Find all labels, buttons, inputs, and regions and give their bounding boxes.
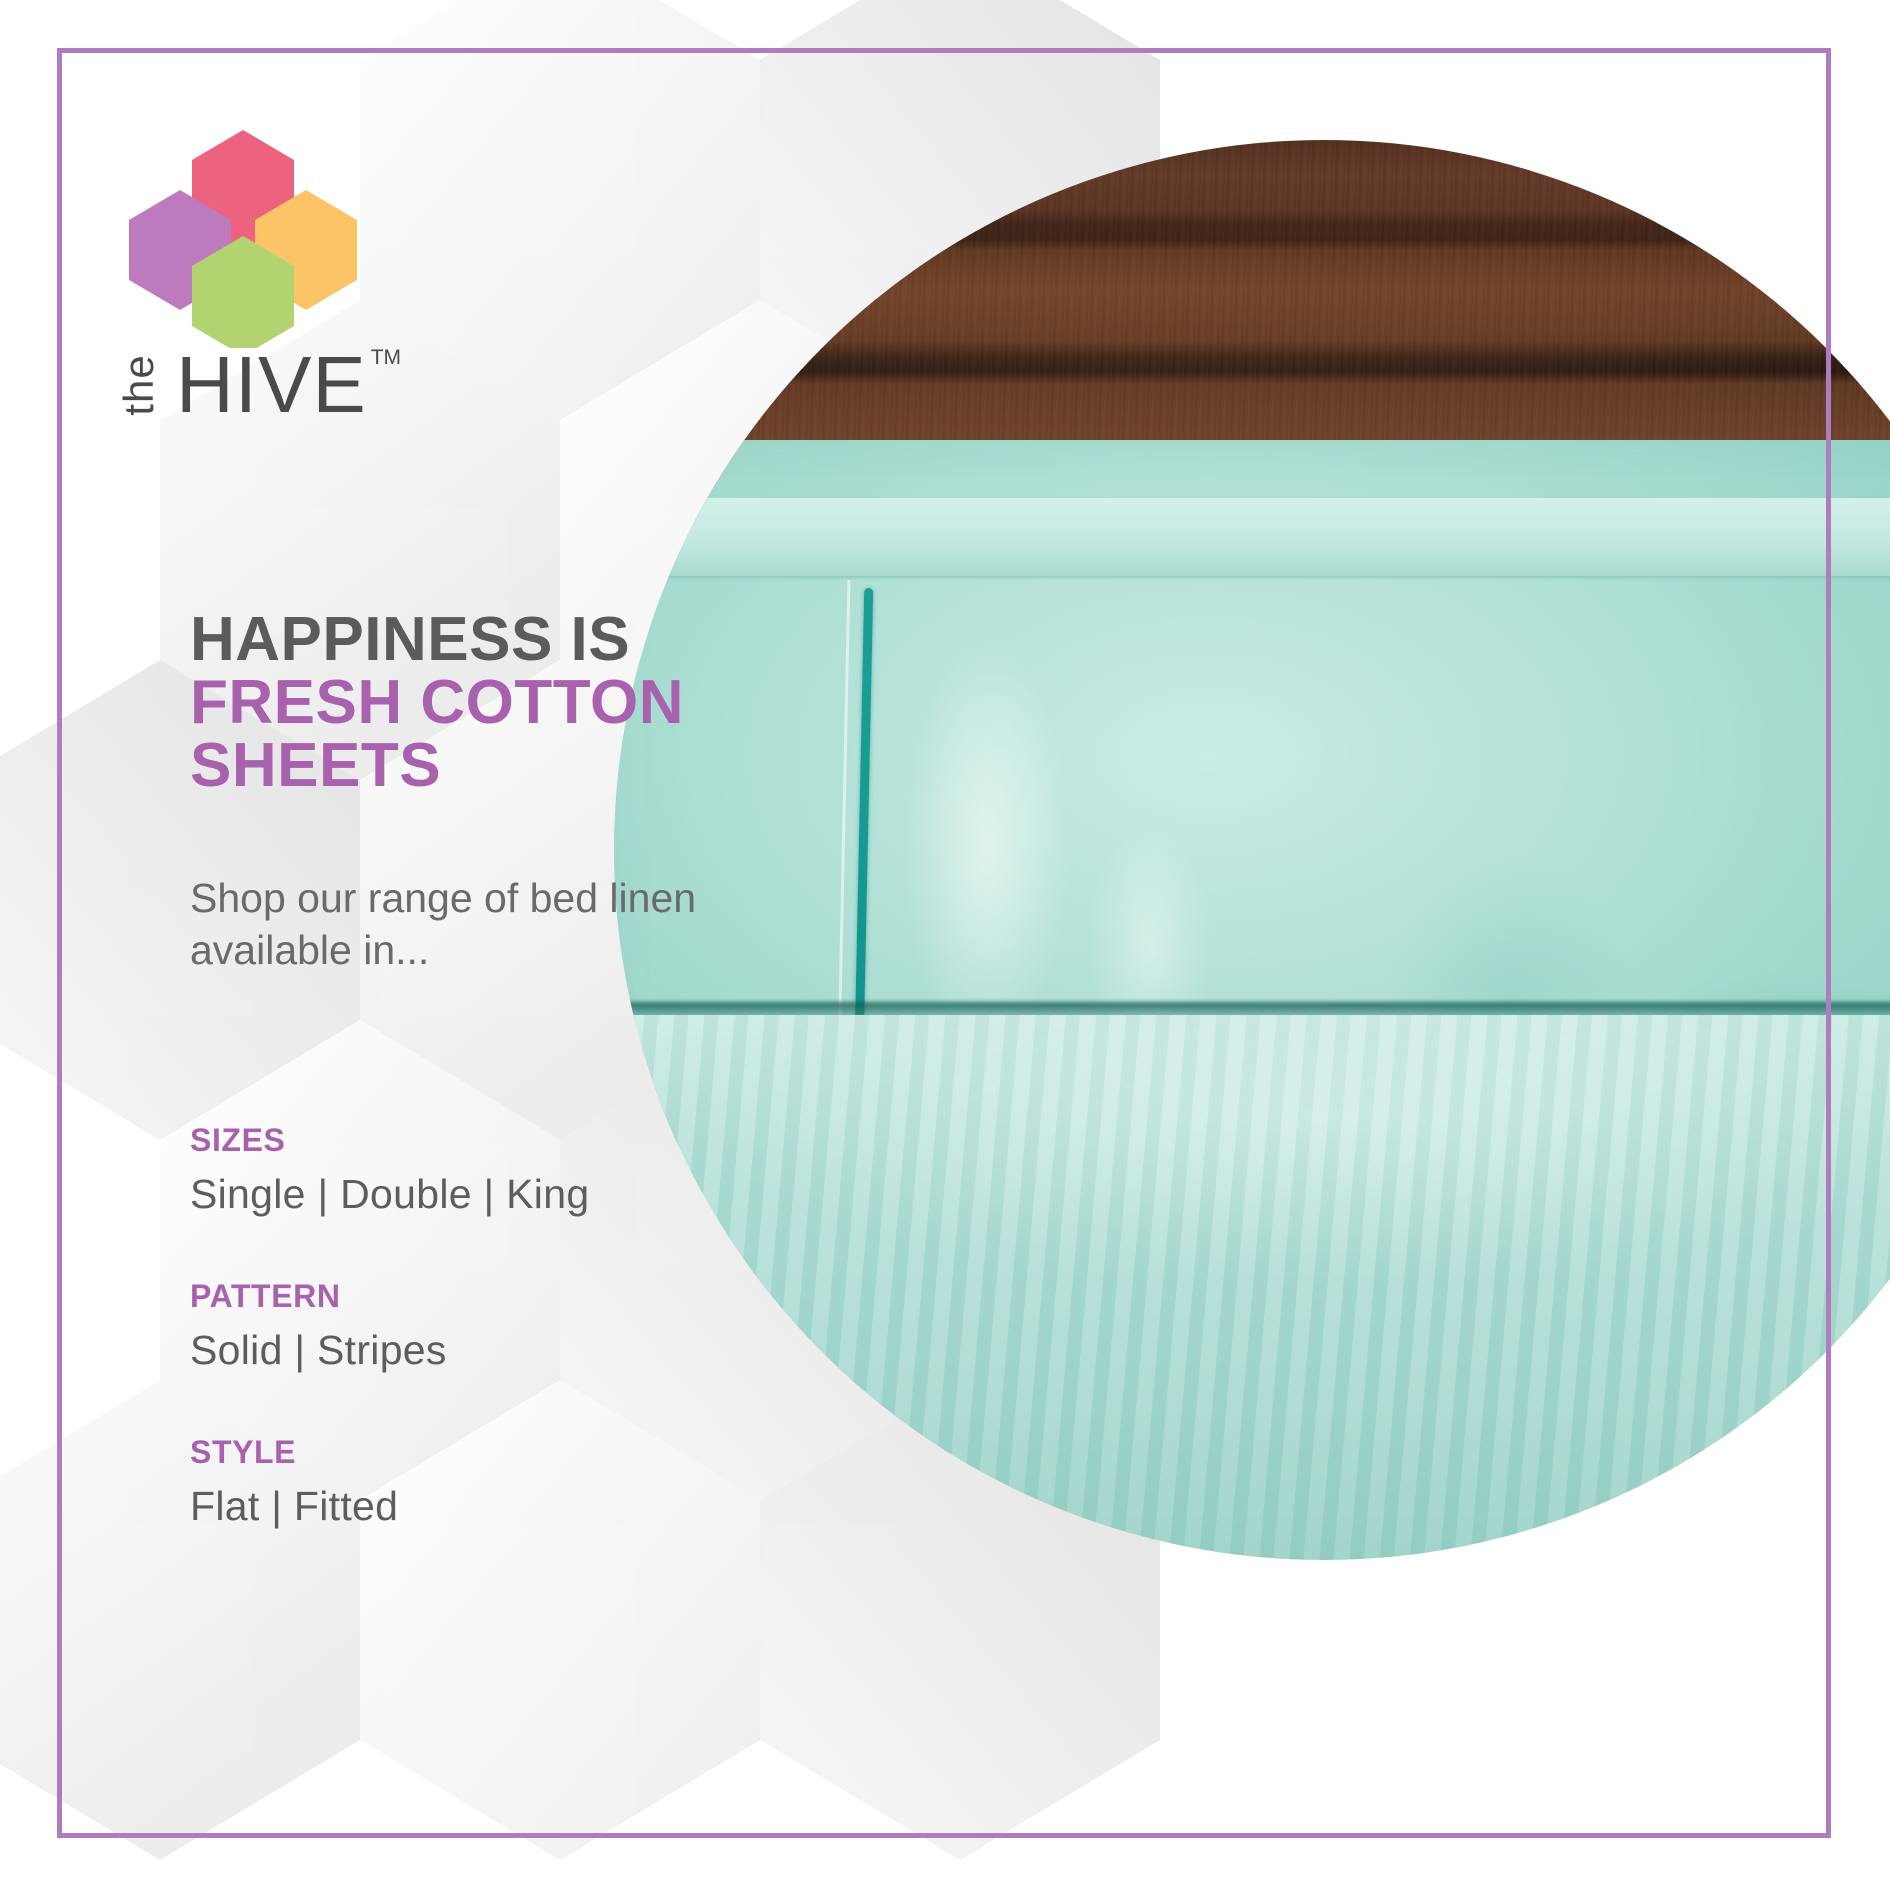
headline-line-3: SHEETS — [190, 734, 1890, 797]
feature-value: Solid | Stripes — [190, 1327, 790, 1374]
promo-poster: the HIVE TM HAPPINESS IS FRESH COTTON SH… — [0, 0, 1890, 1890]
feature-list: SIZES Single | Double | King PATTERN Sol… — [190, 1122, 790, 1590]
striped-fitted-sheet — [614, 1015, 1890, 1560]
wordmark-prefix: the — [114, 342, 164, 428]
headline-line-2: FRESH COTTON — [190, 671, 1890, 734]
feature-item-sizes: SIZES Single | Double | King — [190, 1122, 790, 1218]
feature-item-style: STYLE Flat | Fitted — [190, 1434, 790, 1530]
pillow-top-fold — [644, 498, 1890, 576]
feature-label: STYLE — [190, 1434, 790, 1471]
wordmark-main: HIVE — [176, 348, 367, 422]
feature-item-pattern: PATTERN Solid | Stripes — [190, 1278, 790, 1374]
trademark-symbol: TM — [371, 346, 401, 370]
brand-logo[interactable]: the HIVE TM — [118, 118, 438, 418]
feature-label: SIZES — [190, 1122, 790, 1159]
headline-block: HAPPINESS IS FRESH COTTON SHEETS — [190, 608, 1890, 798]
subcopy-text: Shop our range of bed linen available in… — [190, 872, 710, 977]
brand-wordmark: the HIVE TM — [118, 346, 401, 422]
product-photo-circle — [614, 140, 1890, 1560]
feature-value: Flat | Fitted — [190, 1483, 790, 1530]
headline-line-1: HAPPINESS IS — [190, 608, 1890, 671]
hexagon-flower-logo-icon — [118, 118, 368, 348]
feature-label: PATTERN — [190, 1278, 790, 1315]
feature-value: Single | Double | King — [190, 1171, 790, 1218]
